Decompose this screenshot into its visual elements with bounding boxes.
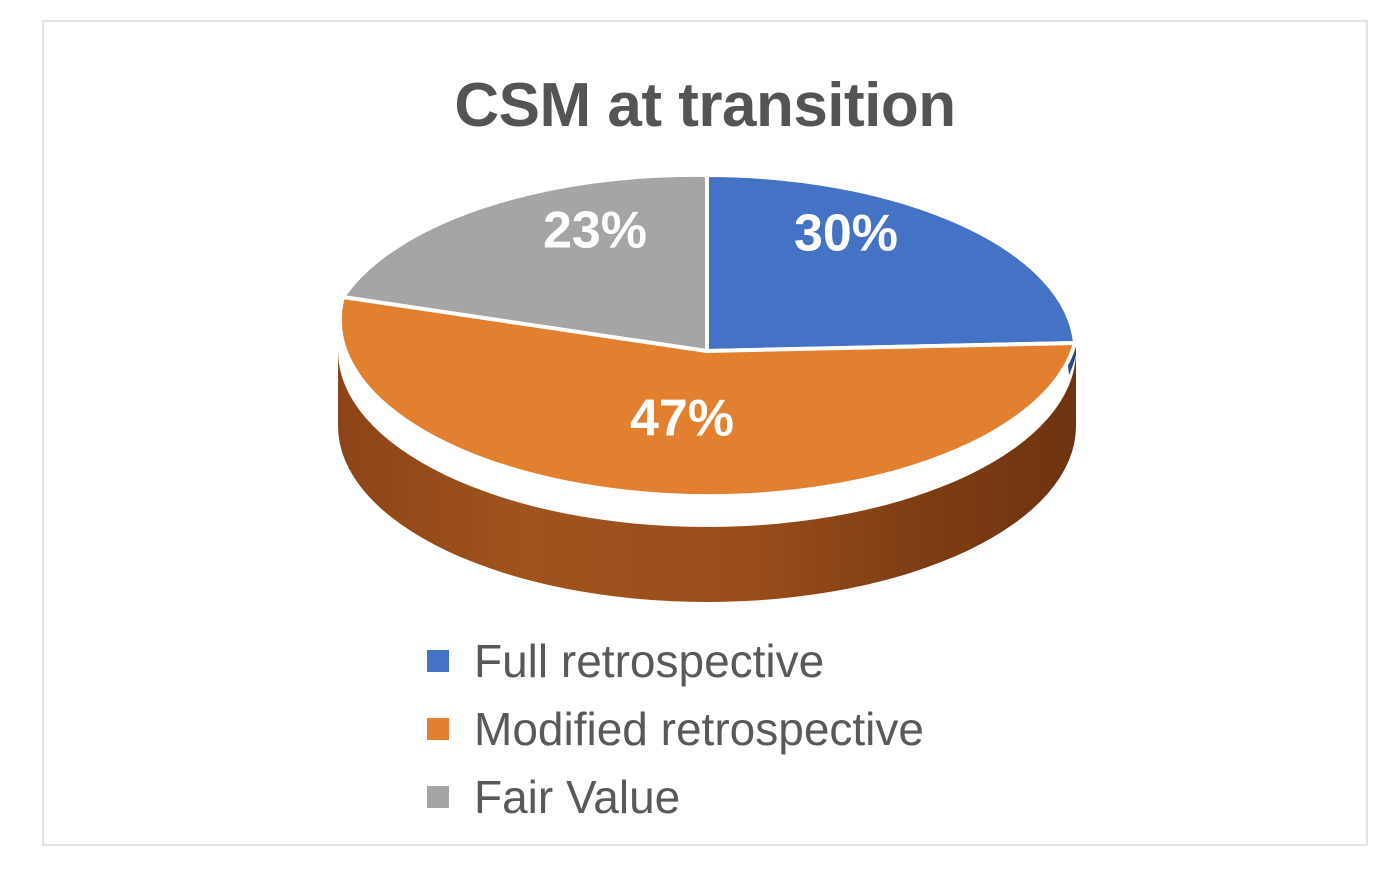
- legend-swatch-icon-fair-value: [427, 786, 449, 808]
- pie-chart-svg: 30% 23% 47%: [307, 142, 1107, 612]
- legend-label-full-retrospective: Full retrospective: [474, 638, 824, 684]
- legend-label-fair-value: Fair Value: [474, 774, 680, 820]
- legend-swatch-icon-modified-retrospective: [427, 718, 449, 740]
- pie-slice-full-retrospective[interactable]: [707, 175, 1075, 351]
- chart-frame: CSM at transition: [42, 20, 1368, 846]
- pie-chart: 30% 23% 47%: [44, 142, 1370, 612]
- legend-item-fair-value[interactable]: Fair Value: [427, 763, 1127, 831]
- legend-item-modified-retrospective[interactable]: Modified retrospective: [427, 695, 1127, 763]
- data-label-fair-value: 23%: [543, 202, 647, 260]
- pie-top-face: [340, 175, 1075, 496]
- legend-swatch-icon-full-retrospective: [427, 650, 449, 672]
- chart-legend: Full retrospective Modified retrospectiv…: [427, 627, 1127, 831]
- chart-title: CSM at transition: [44, 70, 1366, 141]
- legend-item-full-retrospective[interactable]: Full retrospective: [427, 627, 1127, 695]
- legend-label-modified-retrospective: Modified retrospective: [474, 706, 924, 752]
- data-label-full-retrospective: 30%: [794, 205, 898, 263]
- data-label-modified-retrospective: 47%: [630, 390, 734, 448]
